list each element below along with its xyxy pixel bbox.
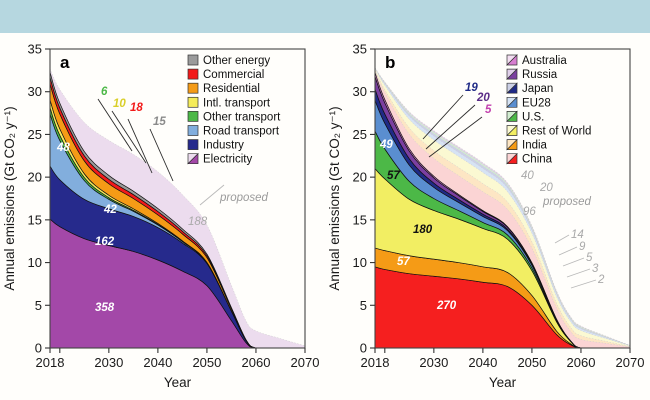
- data-label: 5: [485, 104, 492, 116]
- x-tick-label: 2070: [291, 355, 320, 370]
- legend-swatch: [188, 111, 198, 121]
- data-label: 188: [188, 216, 208, 228]
- legend-item[interactable]: U.S.: [507, 111, 544, 123]
- legend-label: Industry: [203, 140, 244, 152]
- leader-line: [571, 280, 596, 288]
- proposed-label: proposed: [542, 196, 592, 208]
- legend-item[interactable]: China: [507, 154, 553, 166]
- legend-item[interactable]: Russia: [507, 69, 558, 81]
- legend-label: Intl. transport: [203, 97, 271, 109]
- leader-line: [555, 235, 569, 243]
- legend-item[interactable]: Residential: [188, 83, 260, 95]
- data-label: 14: [571, 229, 584, 241]
- legend-label: China: [522, 154, 553, 166]
- y-tick-label: 35: [353, 42, 367, 57]
- legend-item[interactable]: Intl. transport: [188, 97, 271, 109]
- legend-swatch: [188, 55, 198, 65]
- x-tick-label: 2050: [517, 355, 546, 370]
- legend-label: Commercial: [203, 69, 264, 81]
- legend-label: Japan: [522, 83, 553, 95]
- legend-item[interactable]: EU28: [507, 97, 551, 109]
- data-label: 57: [387, 170, 400, 182]
- x-tick-label: 2040: [143, 355, 172, 370]
- data-label: 2: [597, 274, 605, 286]
- legend-label: U.S.: [522, 111, 544, 123]
- x-tick-label: 2050: [192, 355, 221, 370]
- legend-label: Electricity: [203, 154, 252, 166]
- x-tick-label: 2030: [94, 355, 123, 370]
- legend-item[interactable]: Other transport: [188, 111, 281, 123]
- x-tick-label: 2030: [419, 355, 448, 370]
- x-tick-label: 2070: [616, 355, 645, 370]
- data-label: 18: [130, 102, 143, 114]
- figure-canvas: 05101520253035201820302040205020602070Ye…: [0, 33, 650, 400]
- legend: AustraliaRussiaJapanEU28U.S.Rest of Worl…: [507, 55, 591, 166]
- legend-swatch: [188, 69, 198, 79]
- y-tick-label: 10: [353, 255, 367, 270]
- legend: Other energyCommercialResidentialIntl. t…: [188, 55, 281, 166]
- leader-line: [423, 95, 463, 139]
- leader-line: [567, 269, 590, 277]
- panel-b-svg: 05101520253035201820302040205020602070Ye…: [325, 33, 650, 400]
- y-tick-label: 20: [28, 170, 42, 185]
- y-tick-label: 0: [360, 341, 367, 356]
- y-tick-label: 10: [28, 255, 42, 270]
- legend-item[interactable]: Electricity: [188, 154, 252, 166]
- data-label: 20: [476, 92, 490, 104]
- y-tick-label: 25: [353, 127, 367, 142]
- y-tick-label: 30: [353, 84, 367, 99]
- data-label: 10: [113, 98, 126, 110]
- y-tick-label: 25: [28, 127, 42, 142]
- data-label: 6: [101, 86, 108, 98]
- y-tick-label: 35: [28, 42, 42, 57]
- data-label: 180: [413, 224, 433, 236]
- legend-label: Rest of World: [522, 126, 591, 138]
- y-axis-title: Annual emissions (Gt CO₂ y⁻¹): [327, 106, 342, 290]
- y-tick-label: 15: [353, 212, 367, 227]
- legend-item[interactable]: Commercial: [188, 69, 264, 81]
- legend-item[interactable]: Japan: [507, 83, 553, 95]
- data-label: 96: [523, 206, 536, 218]
- data-label: 15: [153, 116, 166, 128]
- x-tick-label: 2018: [361, 355, 390, 370]
- proposed-label: proposed: [219, 192, 269, 204]
- panel-b-plot: 05101520253035201820302040205020602070Ye…: [327, 42, 644, 391]
- legend-label: Other energy: [203, 55, 270, 67]
- panel-letter: a: [60, 53, 70, 72]
- y-axis-title: Annual emissions (Gt CO₂ y⁻¹): [2, 106, 17, 290]
- panel-a-plot: 05101520253035201820302040205020602070Ye…: [2, 42, 319, 391]
- legend-item[interactable]: Industry: [188, 140, 244, 152]
- legend-label: Russia: [522, 69, 558, 81]
- data-label: 49: [379, 139, 393, 151]
- legend-item[interactable]: India: [507, 140, 548, 152]
- legend-swatch: [188, 126, 198, 136]
- legend-swatch: [188, 83, 198, 93]
- data-label: 358: [95, 302, 115, 314]
- x-tick-label: 2060: [567, 355, 596, 370]
- leader-line: [559, 247, 577, 255]
- leader-line: [563, 258, 584, 266]
- y-tick-label: 5: [360, 298, 367, 313]
- y-tick-label: 5: [35, 298, 42, 313]
- x-tick-label: 2040: [468, 355, 497, 370]
- legend-item[interactable]: Rest of World: [507, 126, 591, 138]
- legend-item[interactable]: Australia: [507, 55, 567, 67]
- data-label: 40: [521, 170, 534, 182]
- panel-letter: b: [385, 53, 395, 72]
- data-label: 42: [103, 204, 117, 216]
- legend-label: Road transport: [203, 126, 280, 138]
- legend-item[interactable]: Road transport: [188, 126, 280, 138]
- x-tick-label: 2060: [242, 355, 271, 370]
- data-label: 20: [539, 182, 553, 194]
- y-tick-label: 30: [28, 84, 42, 99]
- legend-label: Australia: [522, 55, 567, 67]
- y-tick-label: 15: [28, 212, 42, 227]
- data-label: 9: [579, 241, 586, 253]
- data-label: 48: [56, 142, 70, 154]
- legend-label: EU28: [522, 97, 551, 109]
- legend-swatch: [188, 97, 198, 107]
- data-label: 162: [95, 236, 115, 248]
- header-band: [0, 0, 650, 33]
- legend-label: Other transport: [203, 111, 281, 123]
- panel-a-svg: 05101520253035201820302040205020602070Ye…: [0, 33, 325, 400]
- x-axis-title: Year: [164, 375, 192, 390]
- legend-item[interactable]: Other energy: [188, 55, 270, 67]
- legend-label: Residential: [203, 83, 260, 95]
- panel-a: 05101520253035201820302040205020602070Ye…: [0, 33, 325, 400]
- panel-b: 05101520253035201820302040205020602070Ye…: [325, 33, 650, 400]
- data-label: 57: [397, 256, 410, 268]
- x-axis-title: Year: [489, 375, 517, 390]
- legend-swatch: [188, 140, 198, 150]
- y-tick-label: 20: [353, 170, 367, 185]
- y-tick-label: 0: [35, 341, 42, 356]
- legend-label: India: [522, 140, 548, 152]
- x-tick-label: 2018: [36, 355, 65, 370]
- data-label: 270: [436, 300, 457, 312]
